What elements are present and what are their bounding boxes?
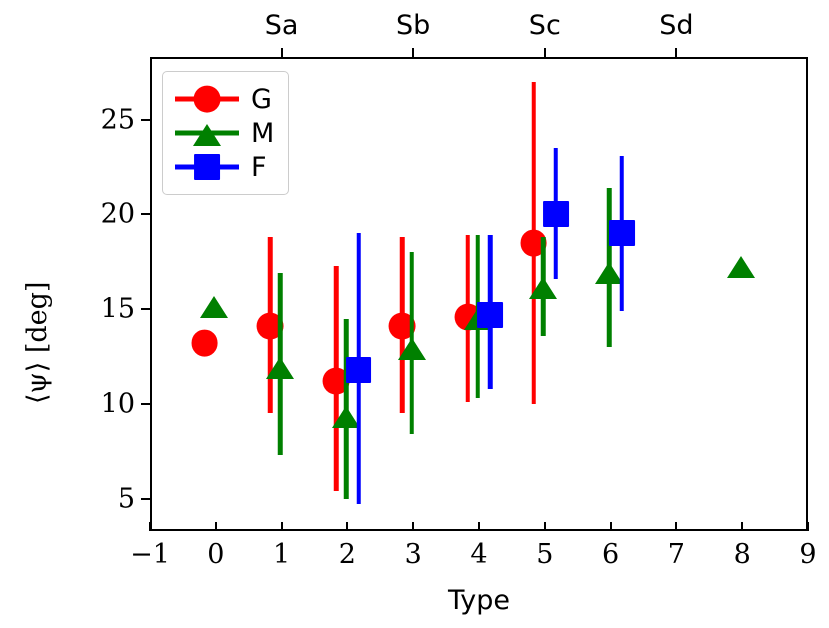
x-axis-title: Type [448,585,510,616]
legend-marker-sample [175,155,239,179]
figure-canvas: −10123456789 510152025 SaSbScSd Type ⟨ψ⟩… [0,0,829,628]
legend-item-g: G [175,82,274,116]
data-point [477,302,503,328]
triangle-icon [193,124,221,146]
legend-label: G [251,86,272,113]
data-point [609,220,635,246]
legend-marker-sample [175,87,239,111]
legend-marker-sample [175,121,239,145]
legend-item-f: F [175,150,274,184]
legend-label: F [251,154,267,181]
legend: GMF [162,71,289,195]
y-axis-title: ⟨ψ⟩ [deg] [22,282,53,404]
data-series-f [0,0,829,628]
square-icon [194,154,220,180]
circle-icon [194,86,221,113]
data-point [543,201,569,227]
legend-item-m: M [175,116,274,150]
legend-label: M [251,120,274,147]
data-point [346,357,372,383]
